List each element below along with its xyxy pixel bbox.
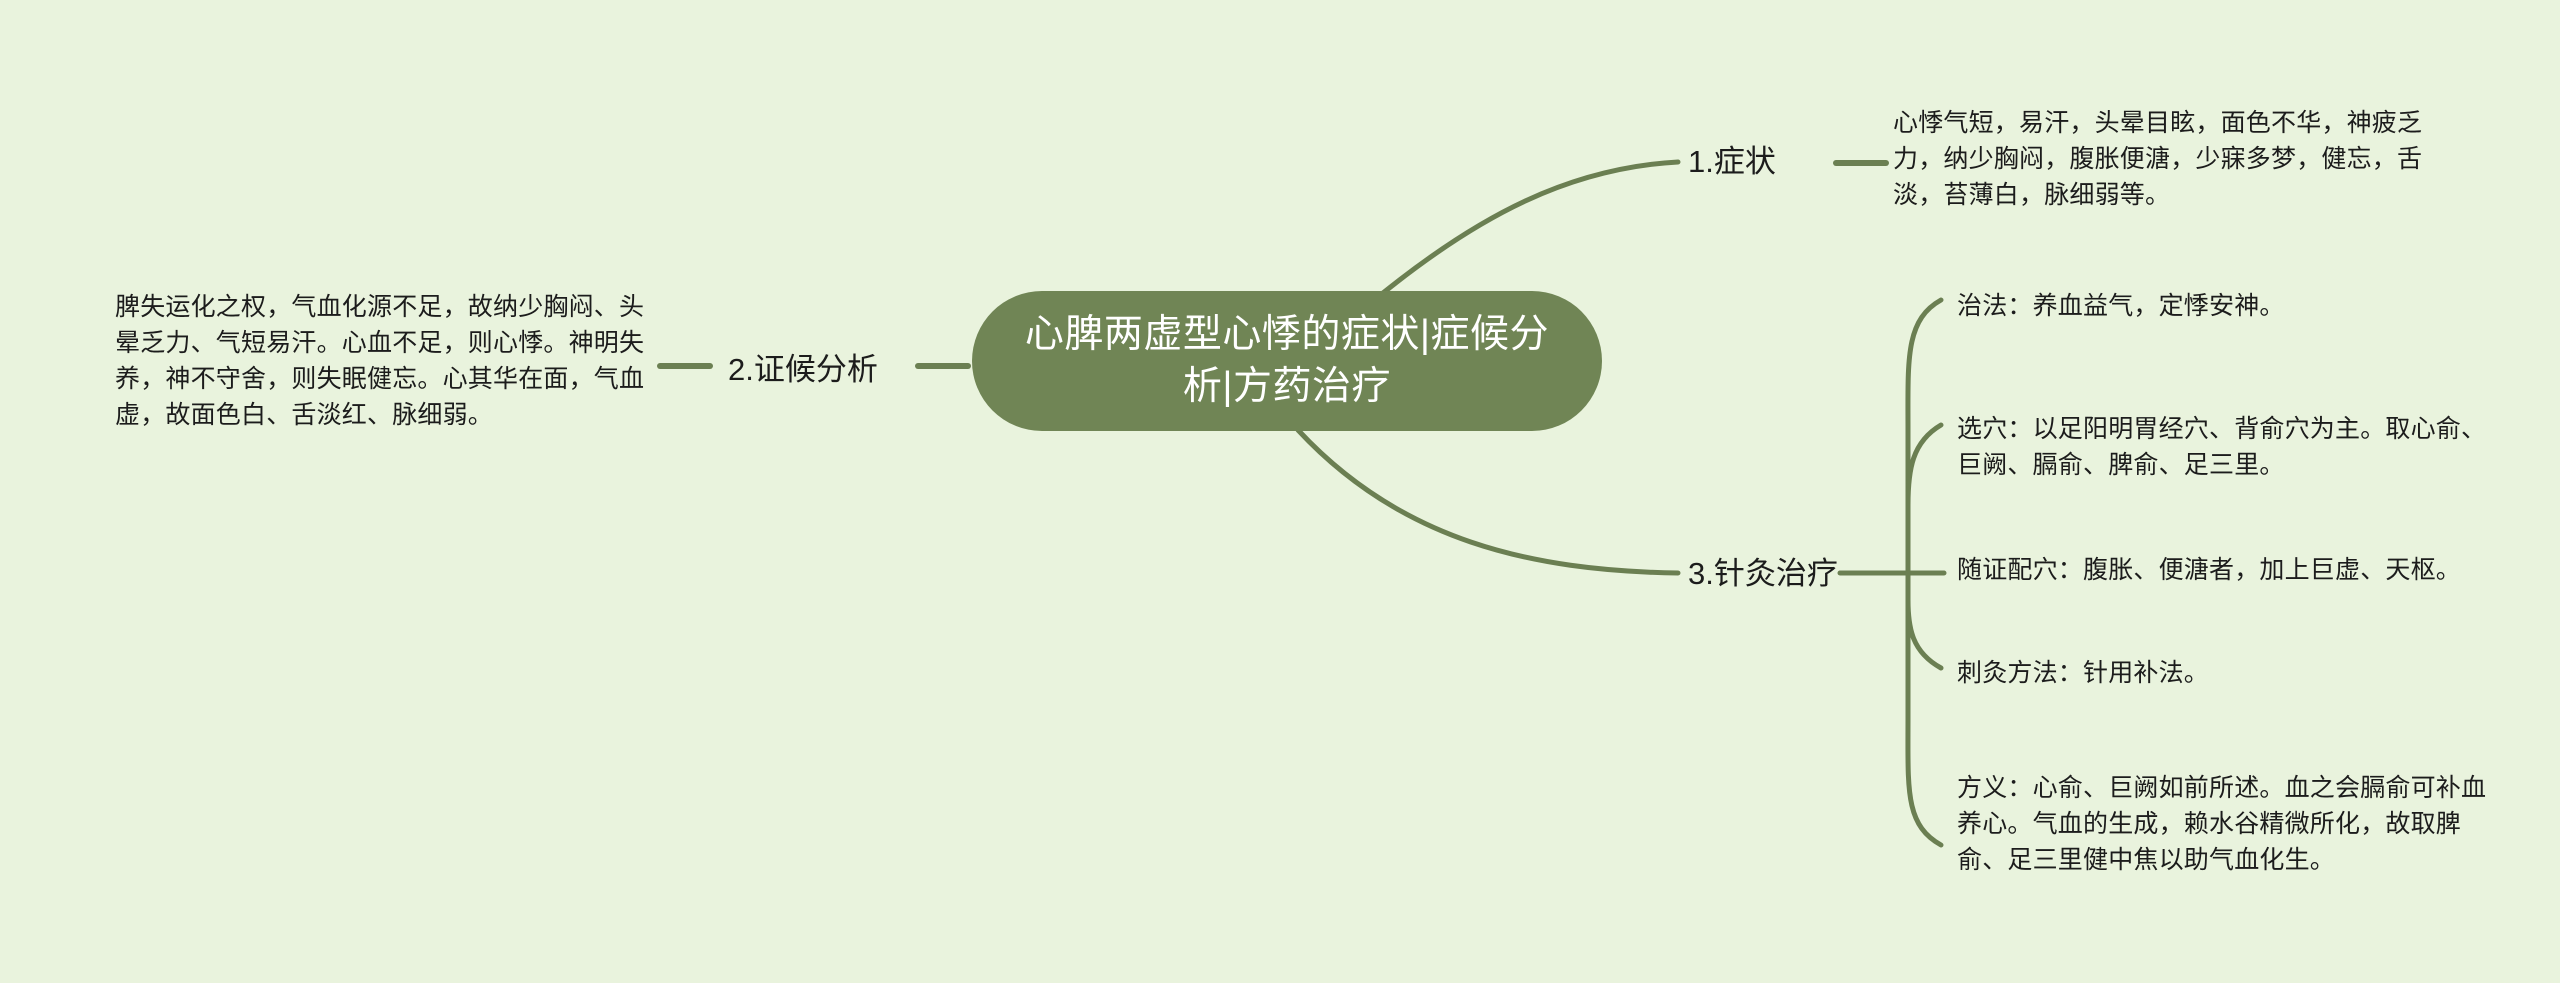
leaf-acupuncture-zhifa[interactable]: 治法：养血益气，定悸安神。 bbox=[1957, 288, 2517, 324]
leaf-symptoms-detail[interactable]: 心悸气短，易汗，头晕目眩，面色不华，神疲乏力，纳少胸闷，腹胀便溏，少寐多梦，健忘… bbox=[1893, 105, 2448, 213]
leaf-syndrome-analysis-detail[interactable]: 脾失运化之权，气血化源不足，故纳少胸闷、头晕乏力、气短易汗。心血不足，则心悸。神… bbox=[115, 289, 660, 433]
leaf-acupuncture-cijiu[interactable]: 刺灸方法：针用补法。 bbox=[1957, 655, 2517, 691]
connector-bracket-mid-upper bbox=[1908, 425, 1941, 573]
mindmap-canvas: 心脾两虚型心悸的症状|症候分析|方药治疗 1.症状 2.证候分析 3.针灸治疗 … bbox=[0, 0, 2560, 983]
root-node[interactable]: 心脾两虚型心悸的症状|症候分析|方药治疗 bbox=[972, 291, 1602, 431]
connector-bracket-upper bbox=[1908, 300, 1941, 573]
leaf-acupuncture-fangyi[interactable]: 方义：心俞、巨阙如前所述。血之会膈俞可补血养心。气血的生成，赖水谷精微所化，故取… bbox=[1957, 770, 2507, 878]
connector-bracket-lower bbox=[1908, 573, 1941, 845]
connector-root-to-branch1 bbox=[1383, 162, 1678, 293]
leaf-acupuncture-xuanxue[interactable]: 选穴：以足阳明胃经穴、背俞穴为主。取心俞、巨阙、膈俞、脾俞、足三里。 bbox=[1957, 411, 2502, 483]
connector-bracket-mid-lower bbox=[1908, 573, 1941, 668]
branch-label-symptoms[interactable]: 1.症状 bbox=[1688, 143, 1776, 181]
leaf-acupuncture-peixue[interactable]: 随证配穴：腹胀、便溏者，加上巨虚、天枢。 bbox=[1957, 552, 2537, 588]
connector-root-to-branch3 bbox=[1298, 430, 1678, 573]
root-node-label: 心脾两虚型心悸的症状|症候分析|方药治疗 bbox=[1016, 309, 1558, 413]
branch-label-acupuncture[interactable]: 3.针灸治疗 bbox=[1688, 555, 1838, 593]
branch-label-syndrome-analysis[interactable]: 2.证候分析 bbox=[728, 351, 878, 389]
